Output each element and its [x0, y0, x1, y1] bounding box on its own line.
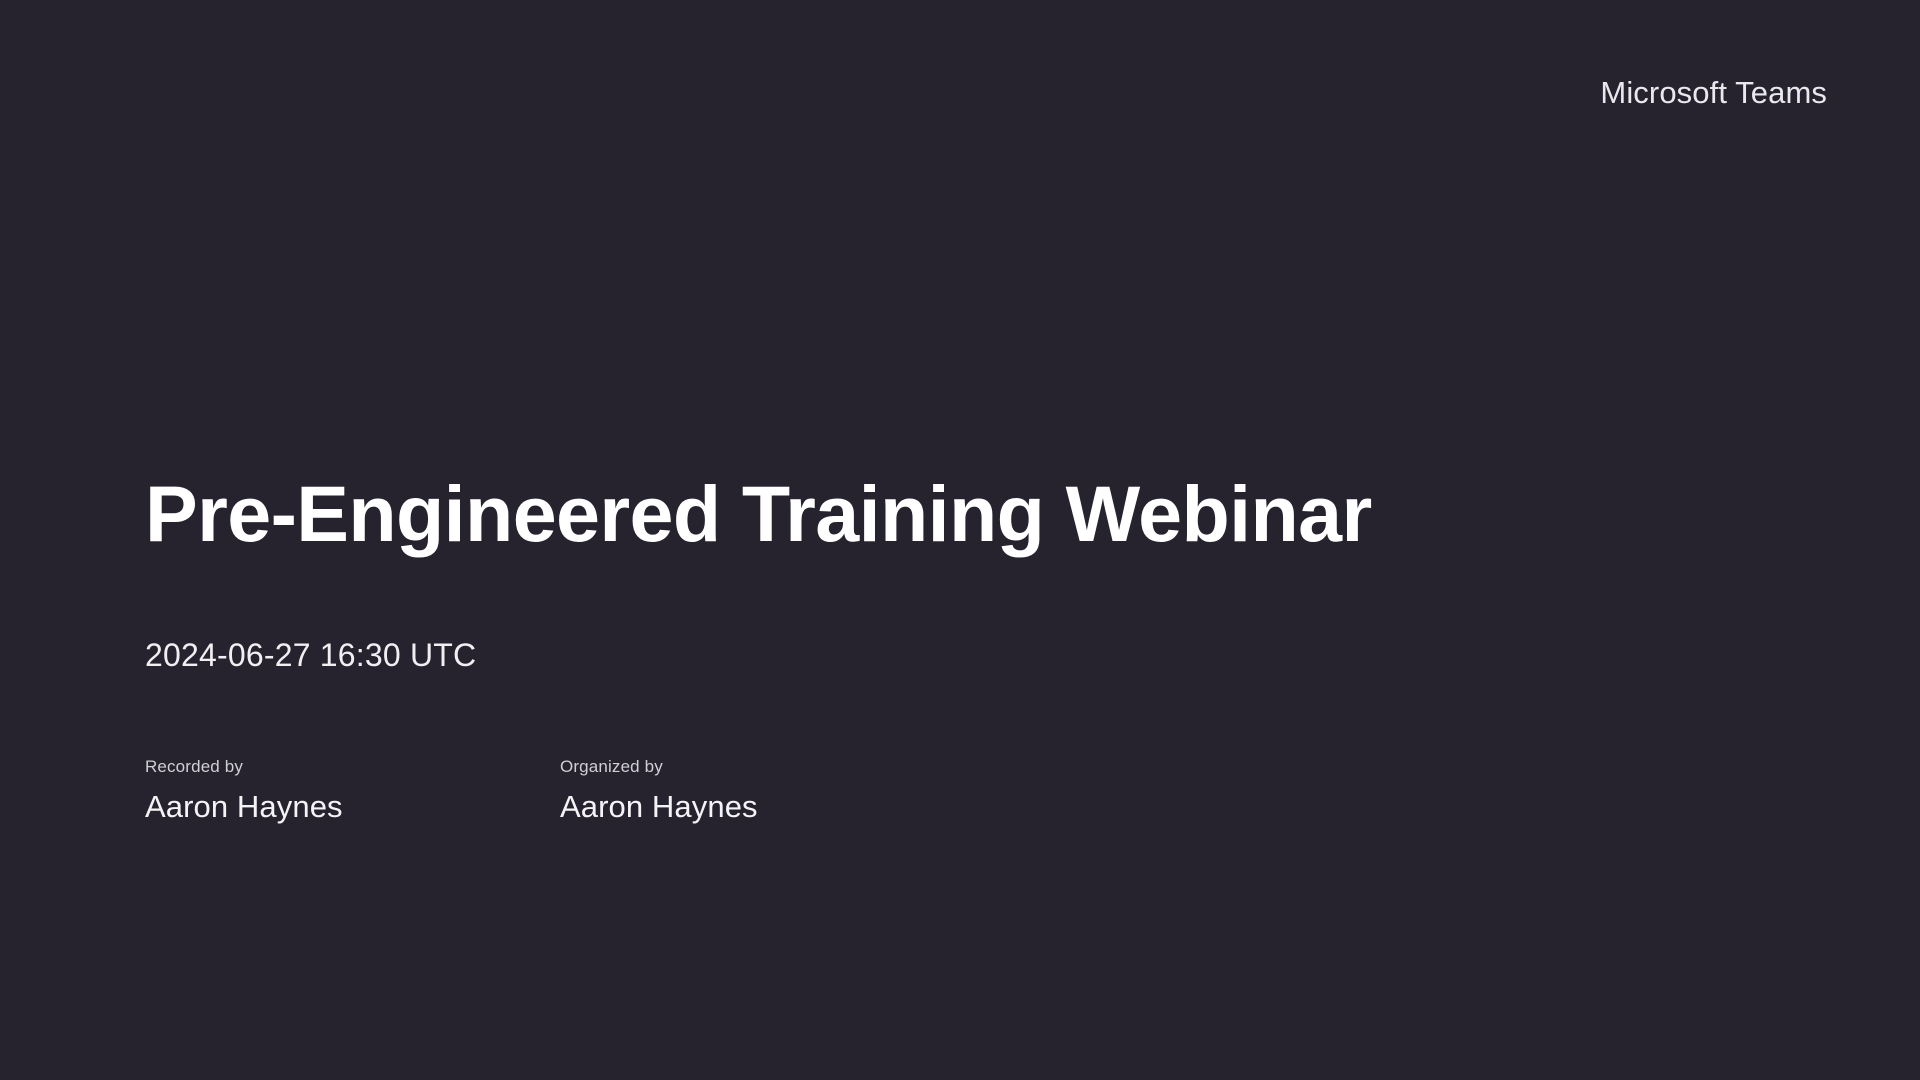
organized-by-label: Organized by — [560, 757, 975, 777]
credit-block-recorded-by: Recorded by Aaron Haynes — [145, 757, 560, 826]
meeting-datetime: 2024-06-27 16:30 UTC — [145, 636, 1845, 674]
credits-row: Recorded by Aaron Haynes Organized by Aa… — [145, 757, 1845, 826]
credit-block-organized-by: Organized by Aaron Haynes — [560, 757, 975, 826]
meeting-title: Pre-Engineered Training Webinar — [145, 470, 1845, 558]
product-label: Microsoft Teams — [1600, 76, 1827, 110]
organized-by-name: Aaron Haynes — [560, 788, 975, 825]
recorded-by-name: Aaron Haynes — [145, 788, 560, 825]
recorded-by-label: Recorded by — [145, 757, 560, 777]
title-card-content: Pre-Engineered Training Webinar 2024-06-… — [145, 470, 1845, 825]
recording-title-card: Microsoft Teams Pre-Engineered Training … — [0, 0, 1920, 1080]
